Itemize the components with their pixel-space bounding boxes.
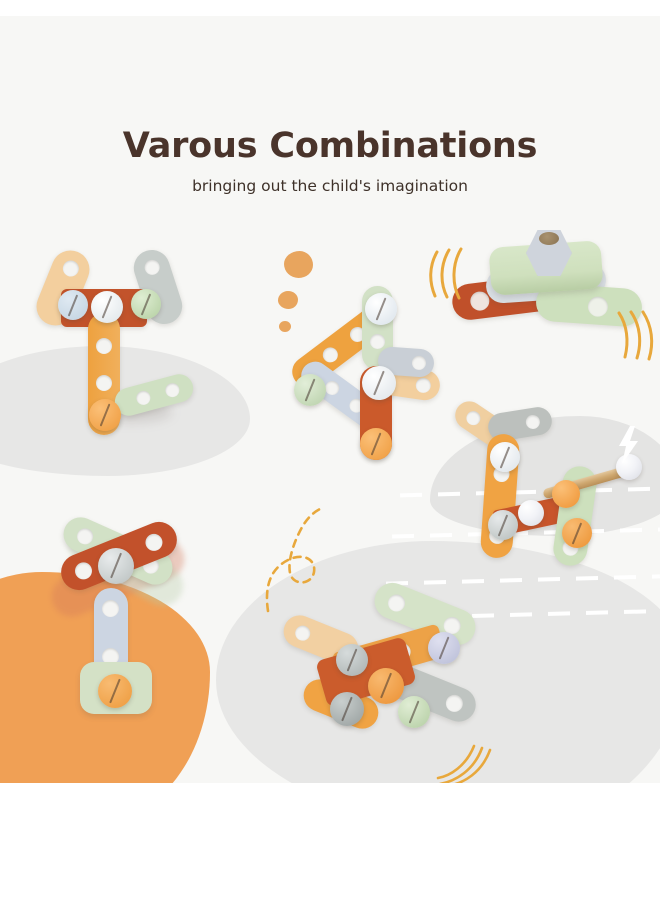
strip-hole — [293, 623, 313, 643]
strip-hole — [415, 377, 432, 394]
motion-arcs-top-left — [427, 242, 471, 302]
orange-screw[interactable] — [562, 518, 592, 548]
mint-screw[interactable] — [398, 696, 430, 728]
strip-hole — [385, 592, 407, 614]
strip-hole — [164, 382, 181, 399]
white-screw-mid[interactable] — [362, 366, 396, 400]
orange-screw-bottom[interactable] — [360, 428, 392, 460]
orange-screw[interactable] — [89, 399, 121, 431]
white-screw-top[interactable] — [365, 293, 397, 325]
gray-center-screw[interactable] — [98, 548, 134, 584]
strip-hole — [135, 389, 152, 406]
orange-hub-ball — [552, 480, 580, 508]
ice-blue-screw[interactable] — [58, 290, 88, 320]
assembly-propeller-tower[interactable] — [42, 506, 202, 726]
page-subtitle: bringing out the child's imagination — [0, 177, 660, 195]
gray-screw-upper[interactable] — [336, 644, 368, 676]
hex-nut-center — [539, 232, 559, 245]
strip-hole — [143, 258, 162, 277]
assembly-y-shaped-stand[interactable] — [30, 241, 240, 436]
mint-screw[interactable] — [131, 289, 161, 319]
motion-arcs-bottom — [436, 734, 492, 783]
assembly-triangle-frame[interactable] — [278, 266, 438, 466]
product-feature-image: Varous Combinations bringing out the chi… — [0, 0, 660, 900]
lavender-screw[interactable] — [428, 632, 460, 664]
white-ball-left — [518, 500, 544, 526]
lightning-bolt-icon — [614, 426, 644, 464]
page-title: Varous Combinations — [0, 128, 660, 165]
mint-screw[interactable] — [294, 374, 326, 406]
white-screw[interactable] — [91, 291, 123, 323]
strip-hole — [370, 334, 385, 349]
orange-center-screw[interactable] — [368, 668, 404, 704]
strip-hole — [96, 375, 112, 391]
strip-hole — [75, 526, 96, 547]
strip-hole — [60, 258, 81, 279]
strip-hole — [525, 414, 541, 430]
strip-hole — [411, 355, 426, 370]
strip-hole — [464, 408, 483, 427]
white-screw[interactable] — [490, 442, 520, 472]
gray-screw[interactable] — [488, 510, 518, 540]
strip-hole — [102, 600, 119, 617]
strip-hole — [443, 692, 465, 714]
motion-arcs-top-right — [613, 309, 657, 363]
strip-hole — [320, 344, 341, 365]
strip-hole — [143, 531, 165, 553]
gray-screw-lower[interactable] — [330, 692, 364, 726]
heading-block: Varous Combinations bringing out the chi… — [0, 128, 660, 195]
strip-hole — [96, 338, 112, 354]
strip-hole — [72, 560, 94, 582]
strip-hole — [587, 296, 608, 317]
orange-base-screw[interactable] — [98, 674, 132, 708]
content-panel: Varous Combinations bringing out the chi… — [0, 16, 660, 783]
